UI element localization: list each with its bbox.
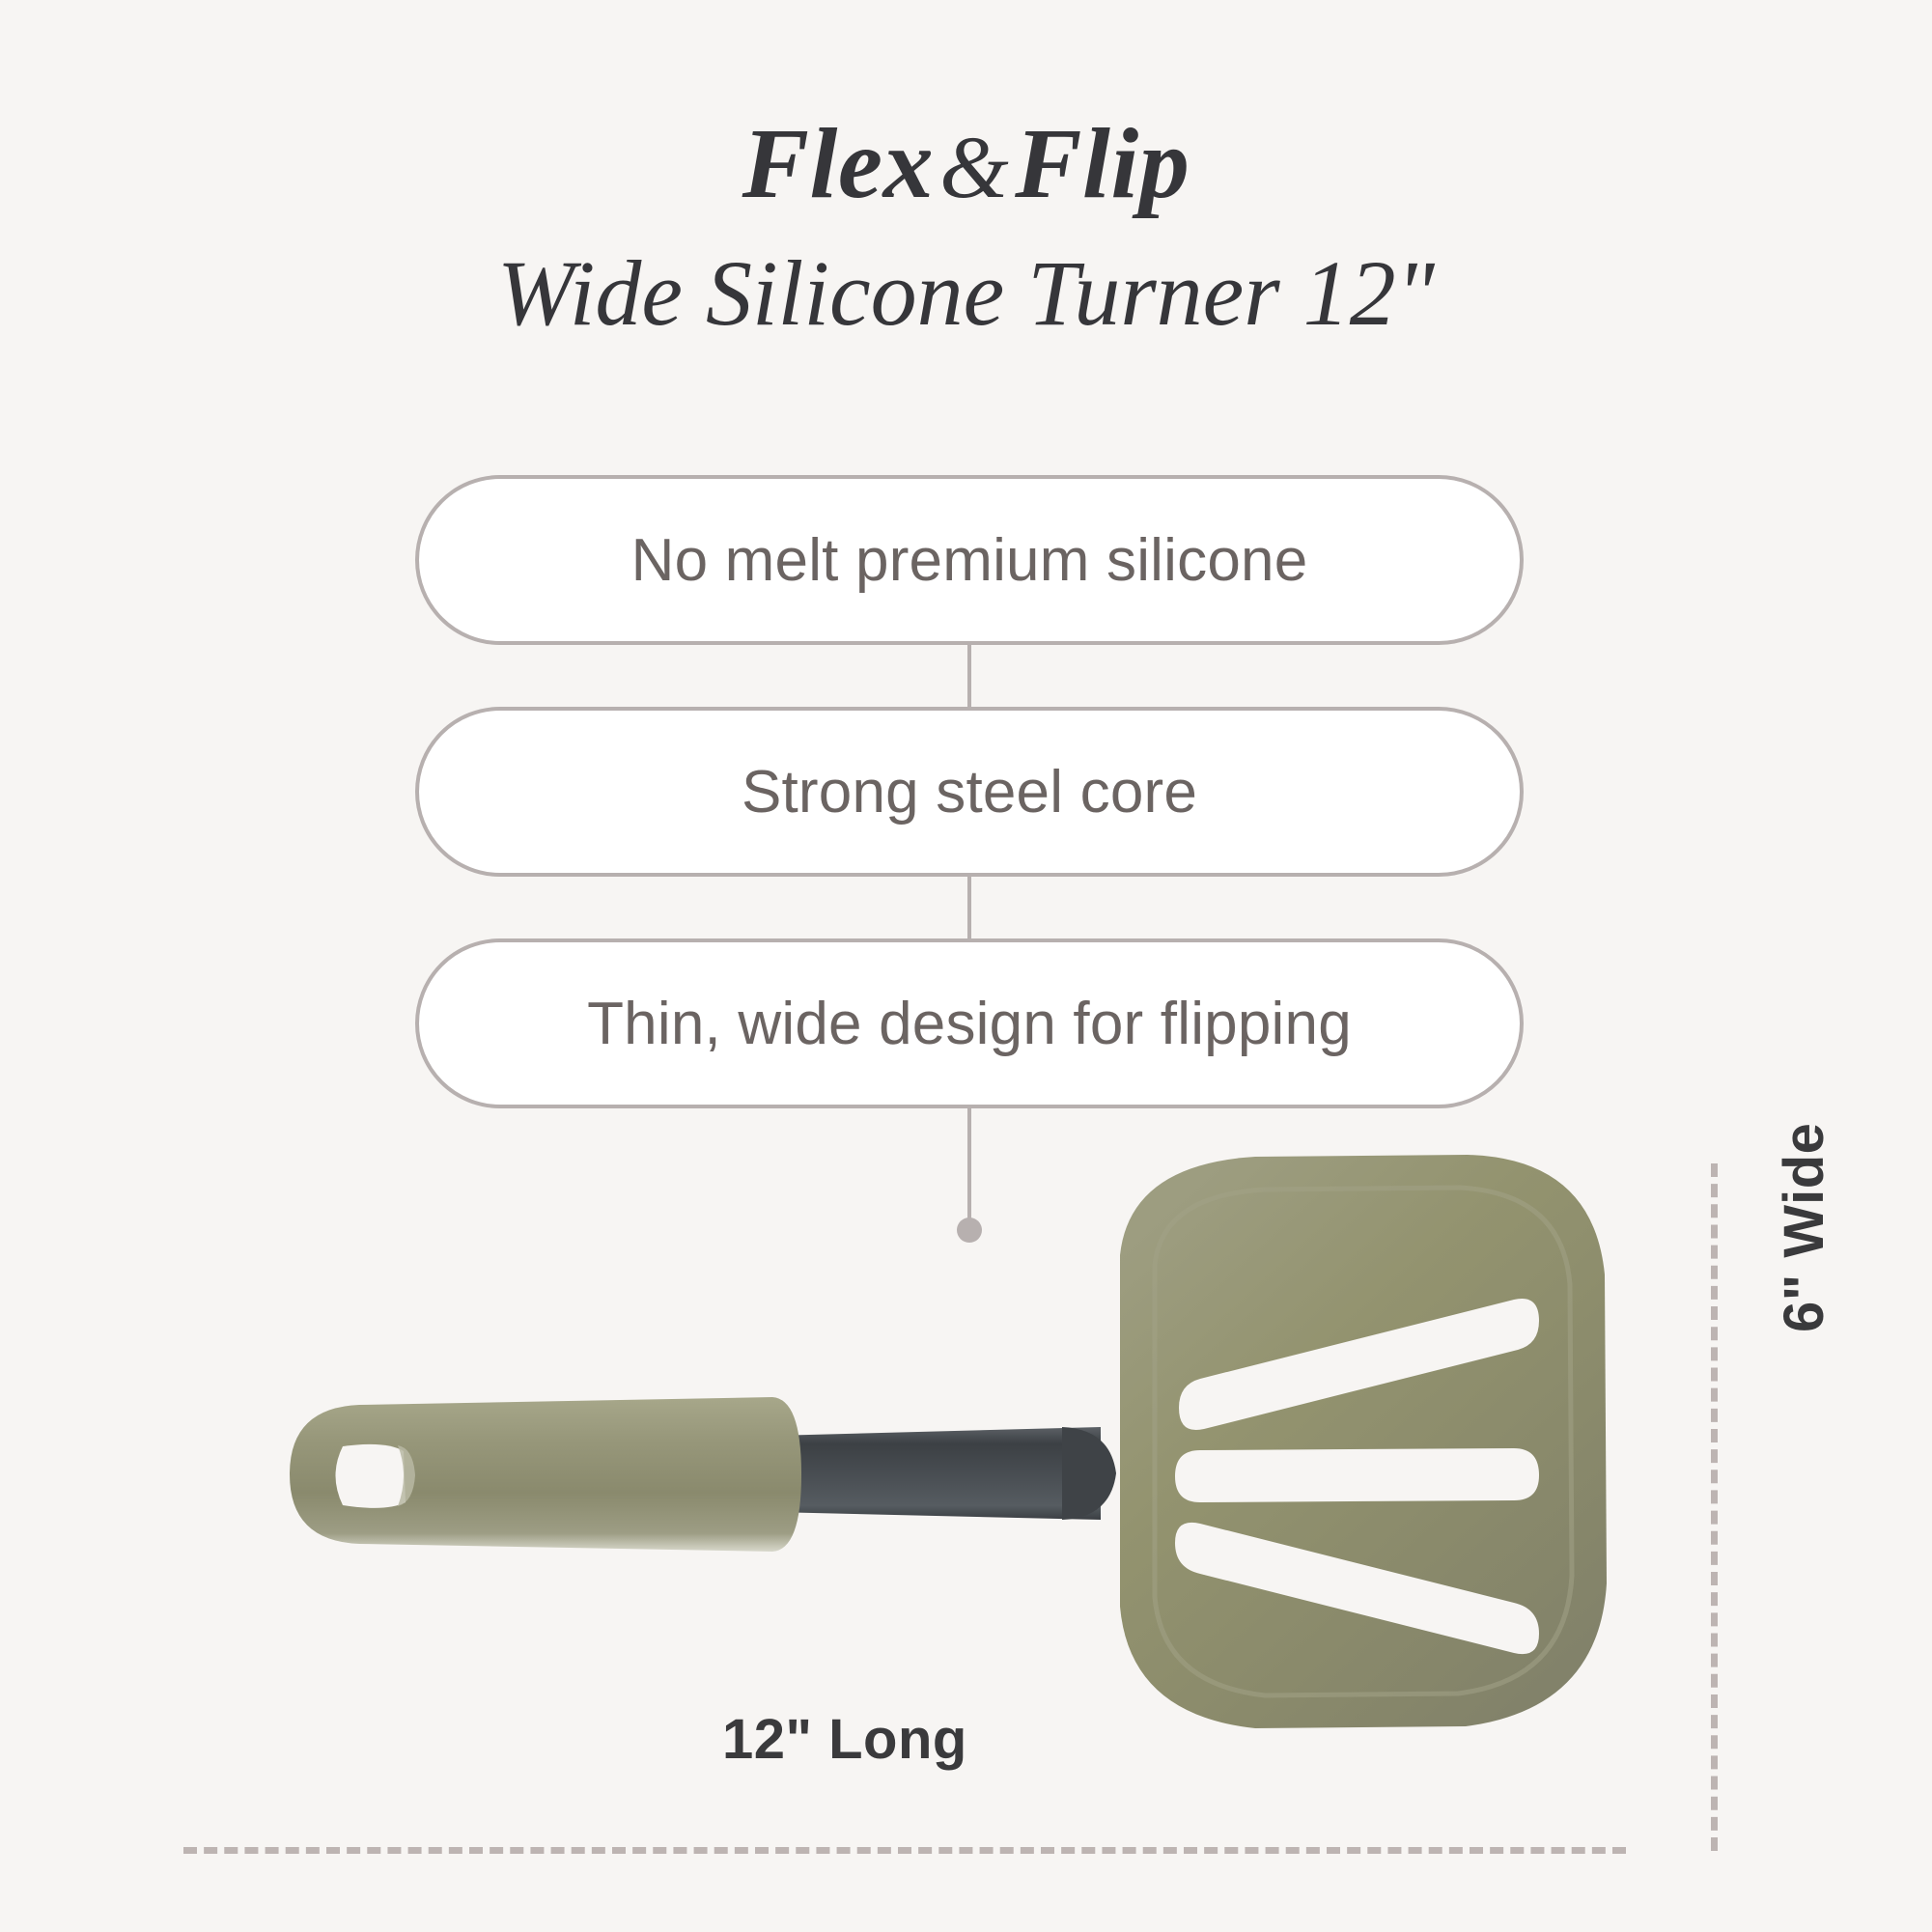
product-steel-shaft	[772, 1427, 1116, 1520]
head-slot-2	[1175, 1448, 1539, 1502]
product-head	[1120, 1155, 1607, 1728]
feature-pill-3[interactable]: Thin, wide design for flipping	[415, 938, 1524, 1108]
connector-line-2	[967, 877, 971, 938]
page-title: Flex&Flip	[0, 114, 1932, 214]
feature-pill-2[interactable]: Strong steel core	[415, 707, 1524, 877]
title-word-flex: Flex	[742, 108, 934, 219]
feature-pill-1-label: No melt premium silicone	[631, 526, 1308, 595]
feature-pill-2-label: Strong steel core	[742, 758, 1197, 826]
connector-line-3	[967, 1108, 971, 1232]
feature-list: No melt premium silicone Strong steel co…	[415, 475, 1524, 1232]
head-slot-1	[1179, 1299, 1539, 1430]
dimension-label-width: 6" Wide	[1772, 1123, 1836, 1332]
dimension-guide-bottom	[183, 1847, 1626, 1854]
connector-line-1	[967, 645, 971, 707]
handle-hang-hole	[336, 1444, 406, 1508]
feature-pill-1[interactable]: No melt premium silicone	[415, 475, 1524, 645]
dimension-guide-right	[1711, 1163, 1718, 1851]
title-word-flip: Flip	[1015, 108, 1190, 219]
head-slot-3	[1175, 1523, 1539, 1654]
title-ampersand: &	[934, 118, 1015, 216]
dimension-label-length: 12" Long	[722, 1707, 967, 1772]
feature-pill-3-label: Thin, wide design for flipping	[587, 990, 1352, 1058]
page-subtitle: Wide Silicone Turner 12"	[0, 214, 1932, 340]
product-handle	[290, 1397, 801, 1552]
connector-endpoint-dot	[957, 1218, 982, 1243]
header: Flex&Flip Wide Silicone Turner 12"	[0, 0, 1932, 340]
